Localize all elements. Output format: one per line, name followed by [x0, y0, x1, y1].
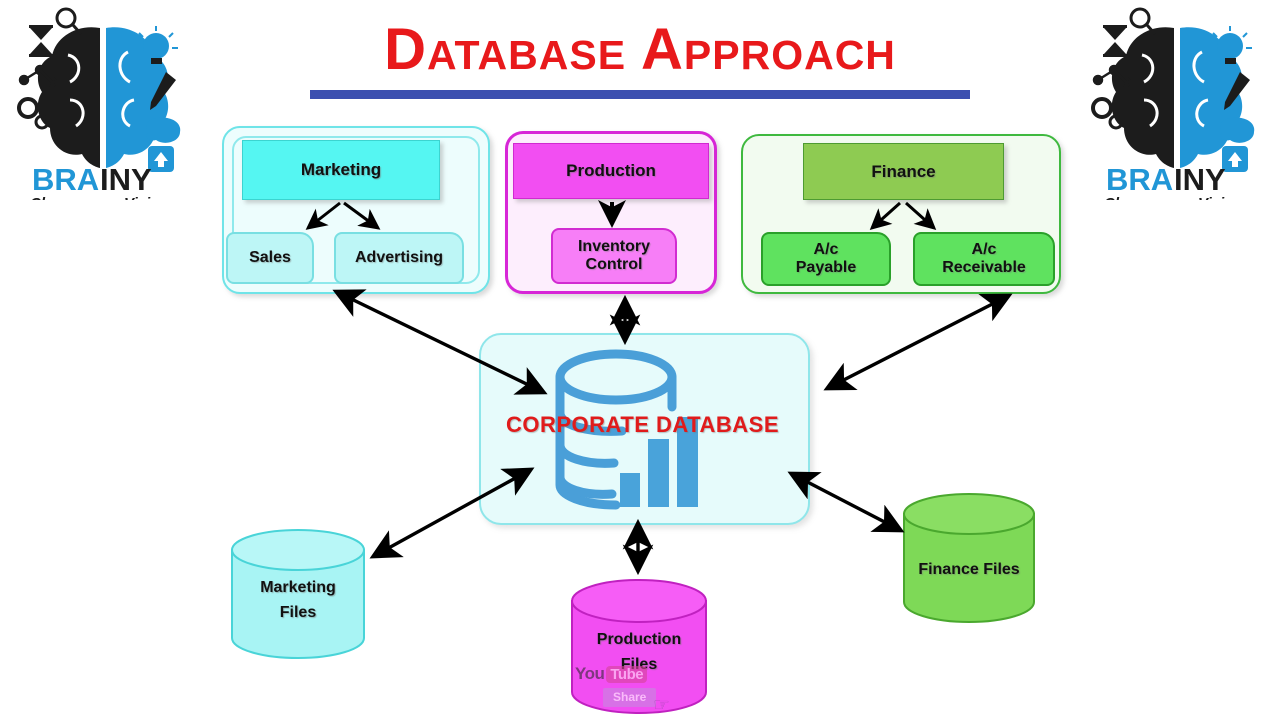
advertising-label: Advertising [355, 249, 443, 267]
brainy-logo-right: BRA INY Chase your Vision [1082, 0, 1272, 200]
sales-label: Sales [249, 249, 291, 267]
corporate-database-label: CORPORATE DATABASE [479, 412, 806, 438]
accounts-receivable-box[interactable]: A/c Receivable [913, 232, 1055, 286]
production-label: Production [566, 161, 656, 181]
accounts-receivable-label: A/c Receivable [942, 241, 1026, 277]
advertising-box[interactable]: Advertising [334, 232, 464, 284]
svg-text:BRA: BRA [1106, 162, 1173, 197]
accounts-payable-box[interactable]: A/c Payable [761, 232, 891, 286]
svg-text:INY: INY [100, 162, 152, 197]
youtube-watermark: YouTube Share ☞ [575, 664, 705, 714]
finance-label: Finance [871, 162, 935, 182]
svg-text:Chase: Chase [30, 195, 75, 200]
brainy-logo-left: BRA INY Chase your Vision [8, 0, 198, 200]
search-icon [1131, 9, 1155, 34]
accounts-payable-label: A/c Payable [796, 241, 856, 277]
speech-bubble-icon [1220, 118, 1254, 143]
upload-icon [148, 146, 174, 172]
page-title: Database Approach [300, 18, 980, 82]
svg-text:Chase: Chase [1104, 195, 1149, 200]
svg-text:BRA: BRA [32, 162, 99, 197]
finance-files-cylinder[interactable] [900, 492, 1038, 624]
hourglass-icon [1103, 25, 1127, 57]
title-underline-rule [310, 90, 970, 99]
page-title-wrap: Database Approach [300, 18, 980, 99]
production-header-box[interactable]: Production [513, 143, 709, 199]
search-icon [57, 9, 81, 34]
svg-text:INY: INY [1174, 162, 1226, 197]
slide-canvas: Database Approach [0, 0, 1280, 720]
marketing-label: Marketing [301, 160, 381, 180]
hand-cursor-icon: ☞ [653, 694, 670, 717]
logo-tagline: Chase your Vision [1104, 195, 1242, 200]
logo-wordmark: BRA INY [1106, 162, 1226, 197]
arrow-finance-group-database [828, 296, 1008, 388]
marketing-header-box[interactable]: Marketing [242, 140, 440, 200]
svg-text:Vision: Vision [124, 195, 168, 200]
finance-header-box[interactable]: Finance [803, 143, 1004, 200]
speech-bubble-icon [146, 118, 180, 143]
share-button-watermark: Share [603, 688, 656, 707]
inventory-control-box[interactable]: Inventory Control [551, 228, 677, 284]
upload-icon [1222, 146, 1248, 172]
logo-wordmark: BRA INY [32, 162, 152, 197]
svg-text:your: your [79, 195, 114, 200]
svg-text:your: your [1153, 195, 1188, 200]
svg-text:Vision: Vision [1198, 195, 1242, 200]
sales-box[interactable]: Sales [226, 232, 314, 284]
marketing-files-cylinder[interactable] [228, 528, 368, 660]
inventory-control-label: Inventory Control [578, 238, 650, 274]
youtube-logo-icon: YouTube [575, 664, 647, 684]
hourglass-icon [29, 25, 53, 57]
logo-tagline: Chase your Vision [30, 195, 168, 200]
